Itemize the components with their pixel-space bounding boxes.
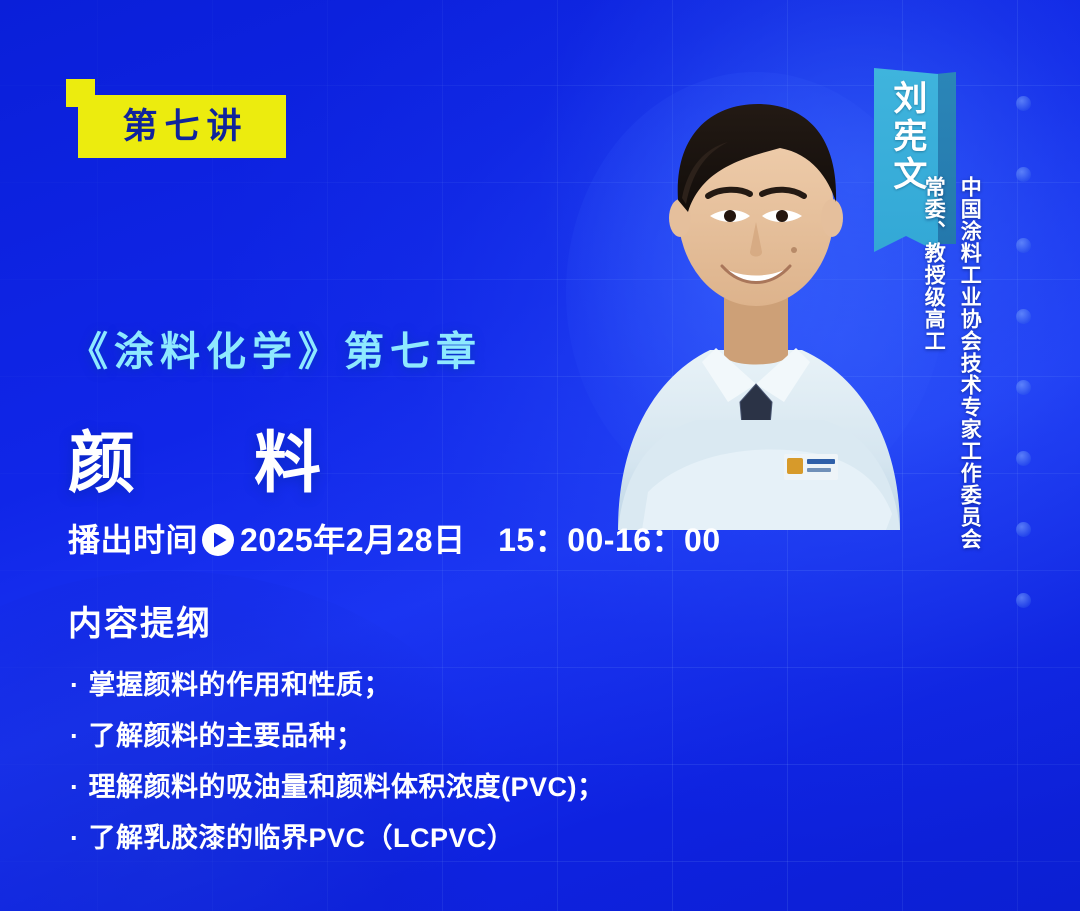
play-circle-icon[interactable] [200,522,236,558]
decorative-dot [1016,167,1031,182]
bullet-icon: · [70,721,80,751]
list-item: ·掌握颜料的作用和性质； [70,672,605,699]
decorative-dot [1016,309,1031,324]
course-subtitle: 《涂料化学》第七章 [68,332,482,372]
list-item-label: 掌握颜料的作用和性质； [89,670,392,700]
list-item-label: 了解颜料的主要品种； [89,721,364,751]
speaker-role: 常委、教授级高工 [922,176,944,352]
bullet-icon: · [70,772,80,802]
bullet-icon: · [70,670,80,700]
lecture-badge-label: 第七讲 [115,109,248,144]
list-item: ·了解乳胶漆的临界PVC（LCPVC） [70,825,605,852]
course-title: 颜 料 [68,430,347,497]
decorative-dot-column [1016,96,1034,664]
list-item-label: 了解乳胶漆的临界PVC（LCPVC） [89,823,515,853]
decorative-dot [1016,451,1031,466]
bullet-icon: · [70,823,80,853]
outline-heading: 内容提纲 [68,607,212,641]
decorative-dot [1016,522,1031,537]
lecture-poster: 第七讲 [0,0,1080,911]
outline-list: ·掌握颜料的作用和性质； ·了解颜料的主要品种； ·理解颜料的吸油量和颜料体积浓… [70,672,605,876]
list-item-label: 理解颜料的吸油量和颜料体积浓度(PVC)； [89,772,605,802]
decorative-dot [1016,96,1031,111]
list-item: ·理解颜料的吸油量和颜料体积浓度(PVC)； [70,774,605,801]
background-glow-top-right [520,0,1080,480]
speaker-name: 刘宪文 [888,80,924,194]
decorative-dot [1016,593,1031,608]
airtime-value: 2025年2月28日 15：00-16：00 [240,524,721,556]
airtime-label: 播出时间 [68,524,198,556]
airtime-row: 播出时间 2025年2月28日 15：00-16：00 [68,522,721,558]
speaker-organization: 中国涂料工业协会技术专家工作委员会 [958,176,980,550]
lecture-badge-bar: 第七讲 [78,95,286,158]
list-item: ·了解颜料的主要品种； [70,723,605,750]
decorative-dot [1016,380,1031,395]
decorative-dot [1016,238,1031,253]
